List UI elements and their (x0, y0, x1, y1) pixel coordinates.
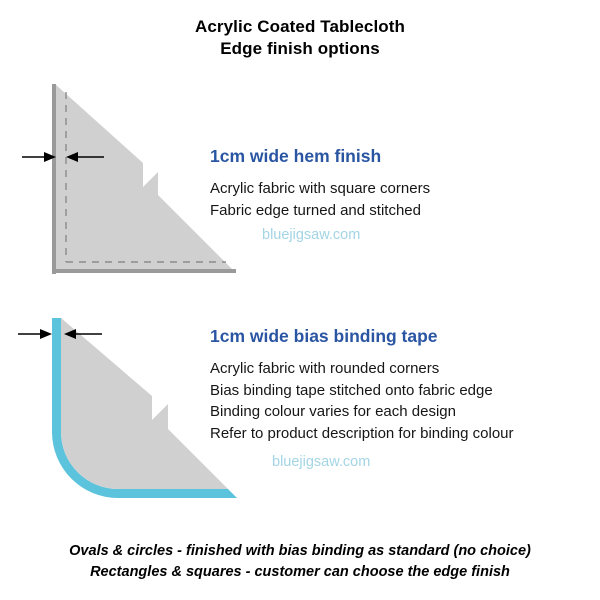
section-line: Binding colour varies for each design (210, 401, 514, 423)
watermark-bluejigsaw: bluejigsaw.com (210, 225, 430, 246)
section-line: Fabric edge turned and stitched (210, 200, 430, 222)
footer-note-line-1: Ovals & circles - finished with bias bin… (0, 541, 600, 562)
page-title-line-1: Acrylic Coated Tablecloth (0, 16, 600, 38)
section-lines-bias-binding: Acrylic fabric with rounded corners Bias… (210, 358, 514, 444)
section-hem-finish-text: 1cm wide hem finish Acrylic fabric with … (210, 145, 430, 246)
page-root: Acrylic Coated Tablecloth Edge finish op… (0, 0, 600, 600)
section-lines-hem-finish: Acrylic fabric with square corners Fabri… (210, 178, 430, 221)
fabric-shape-rounded-corner (61, 318, 228, 489)
watermark-bluejigsaw: bluejigsaw.com (210, 452, 514, 473)
rounded-corner-binding-diagram (0, 0, 600, 600)
page-title-line-2: Edge finish options (0, 38, 600, 60)
hem-width-measure-arrows (22, 152, 104, 162)
fabric-shape-square-corner (55, 84, 235, 272)
square-corner-hem-diagram (0, 0, 600, 600)
section-heading-bias-binding: 1cm wide bias binding tape (210, 325, 514, 347)
tape-width-measure-arrows (18, 329, 102, 339)
section-line: Bias binding tape stitched onto fabric e… (210, 380, 514, 402)
section-line: Refer to product description for binding… (210, 423, 514, 445)
section-heading-hem-finish: 1cm wide hem finish (210, 145, 430, 167)
footer-note-line-2: Rectangles & squares - customer can choo… (0, 562, 600, 583)
fabric-bottom-edge (52, 269, 236, 273)
section-line: Acrylic fabric with square corners (210, 178, 430, 200)
fabric-left-edge (52, 84, 56, 274)
section-bias-binding-text: 1cm wide bias binding tape Acrylic fabri… (210, 325, 514, 473)
footer-notes: Ovals & circles - finished with bias bin… (0, 541, 600, 583)
page-title: Acrylic Coated Tablecloth Edge finish op… (0, 16, 600, 60)
section-line: Acrylic fabric with rounded corners (210, 358, 514, 380)
